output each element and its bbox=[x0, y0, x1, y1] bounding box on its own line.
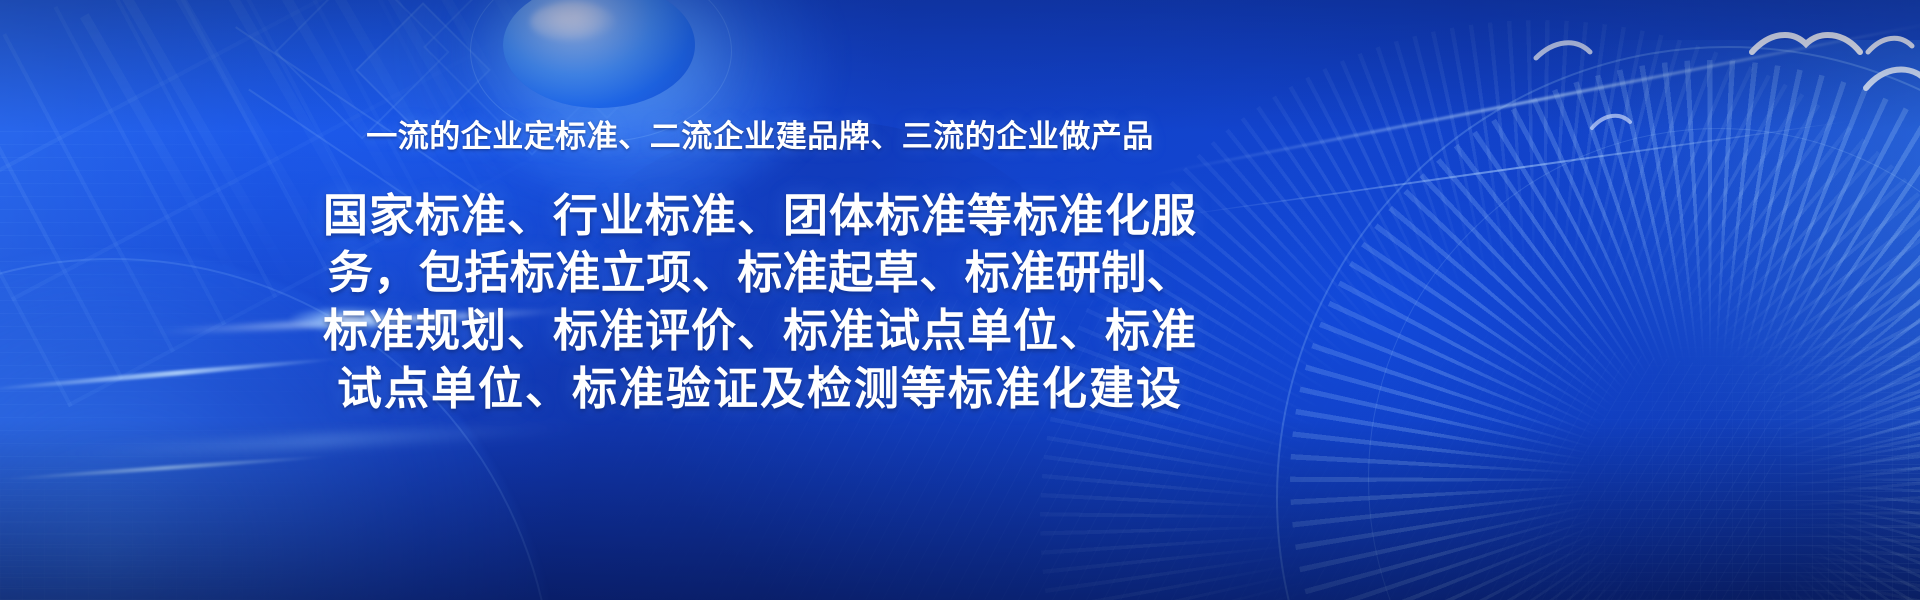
body-line-3: 标准规划、标准评价、标准试点单位、标准 bbox=[240, 302, 1280, 360]
body-line-1: 国家标准、行业标准、团体标准等标准化服 bbox=[240, 187, 1280, 245]
banner-text-block: 一流的企业定标准、二流企业建品牌、三流的企业做产品 国家标准、行业标准、团体标准… bbox=[0, 0, 1520, 600]
banner-body-text: 国家标准、行业标准、团体标准等标准化服 务，包括标准立项、标准起草、标准研制、 … bbox=[240, 187, 1280, 417]
hero-banner: 一流的企业定标准、二流企业建品牌、三流的企业做产品 国家标准、行业标准、团体标准… bbox=[0, 0, 1920, 600]
body-line-2: 务，包括标准立项、标准起草、标准研制、 bbox=[240, 244, 1280, 302]
body-line-4: 试点单位、标准验证及检测等标准化建设 bbox=[240, 360, 1280, 418]
banner-headline: 一流的企业定标准、二流企业建品牌、三流的企业做产品 bbox=[366, 118, 1154, 157]
